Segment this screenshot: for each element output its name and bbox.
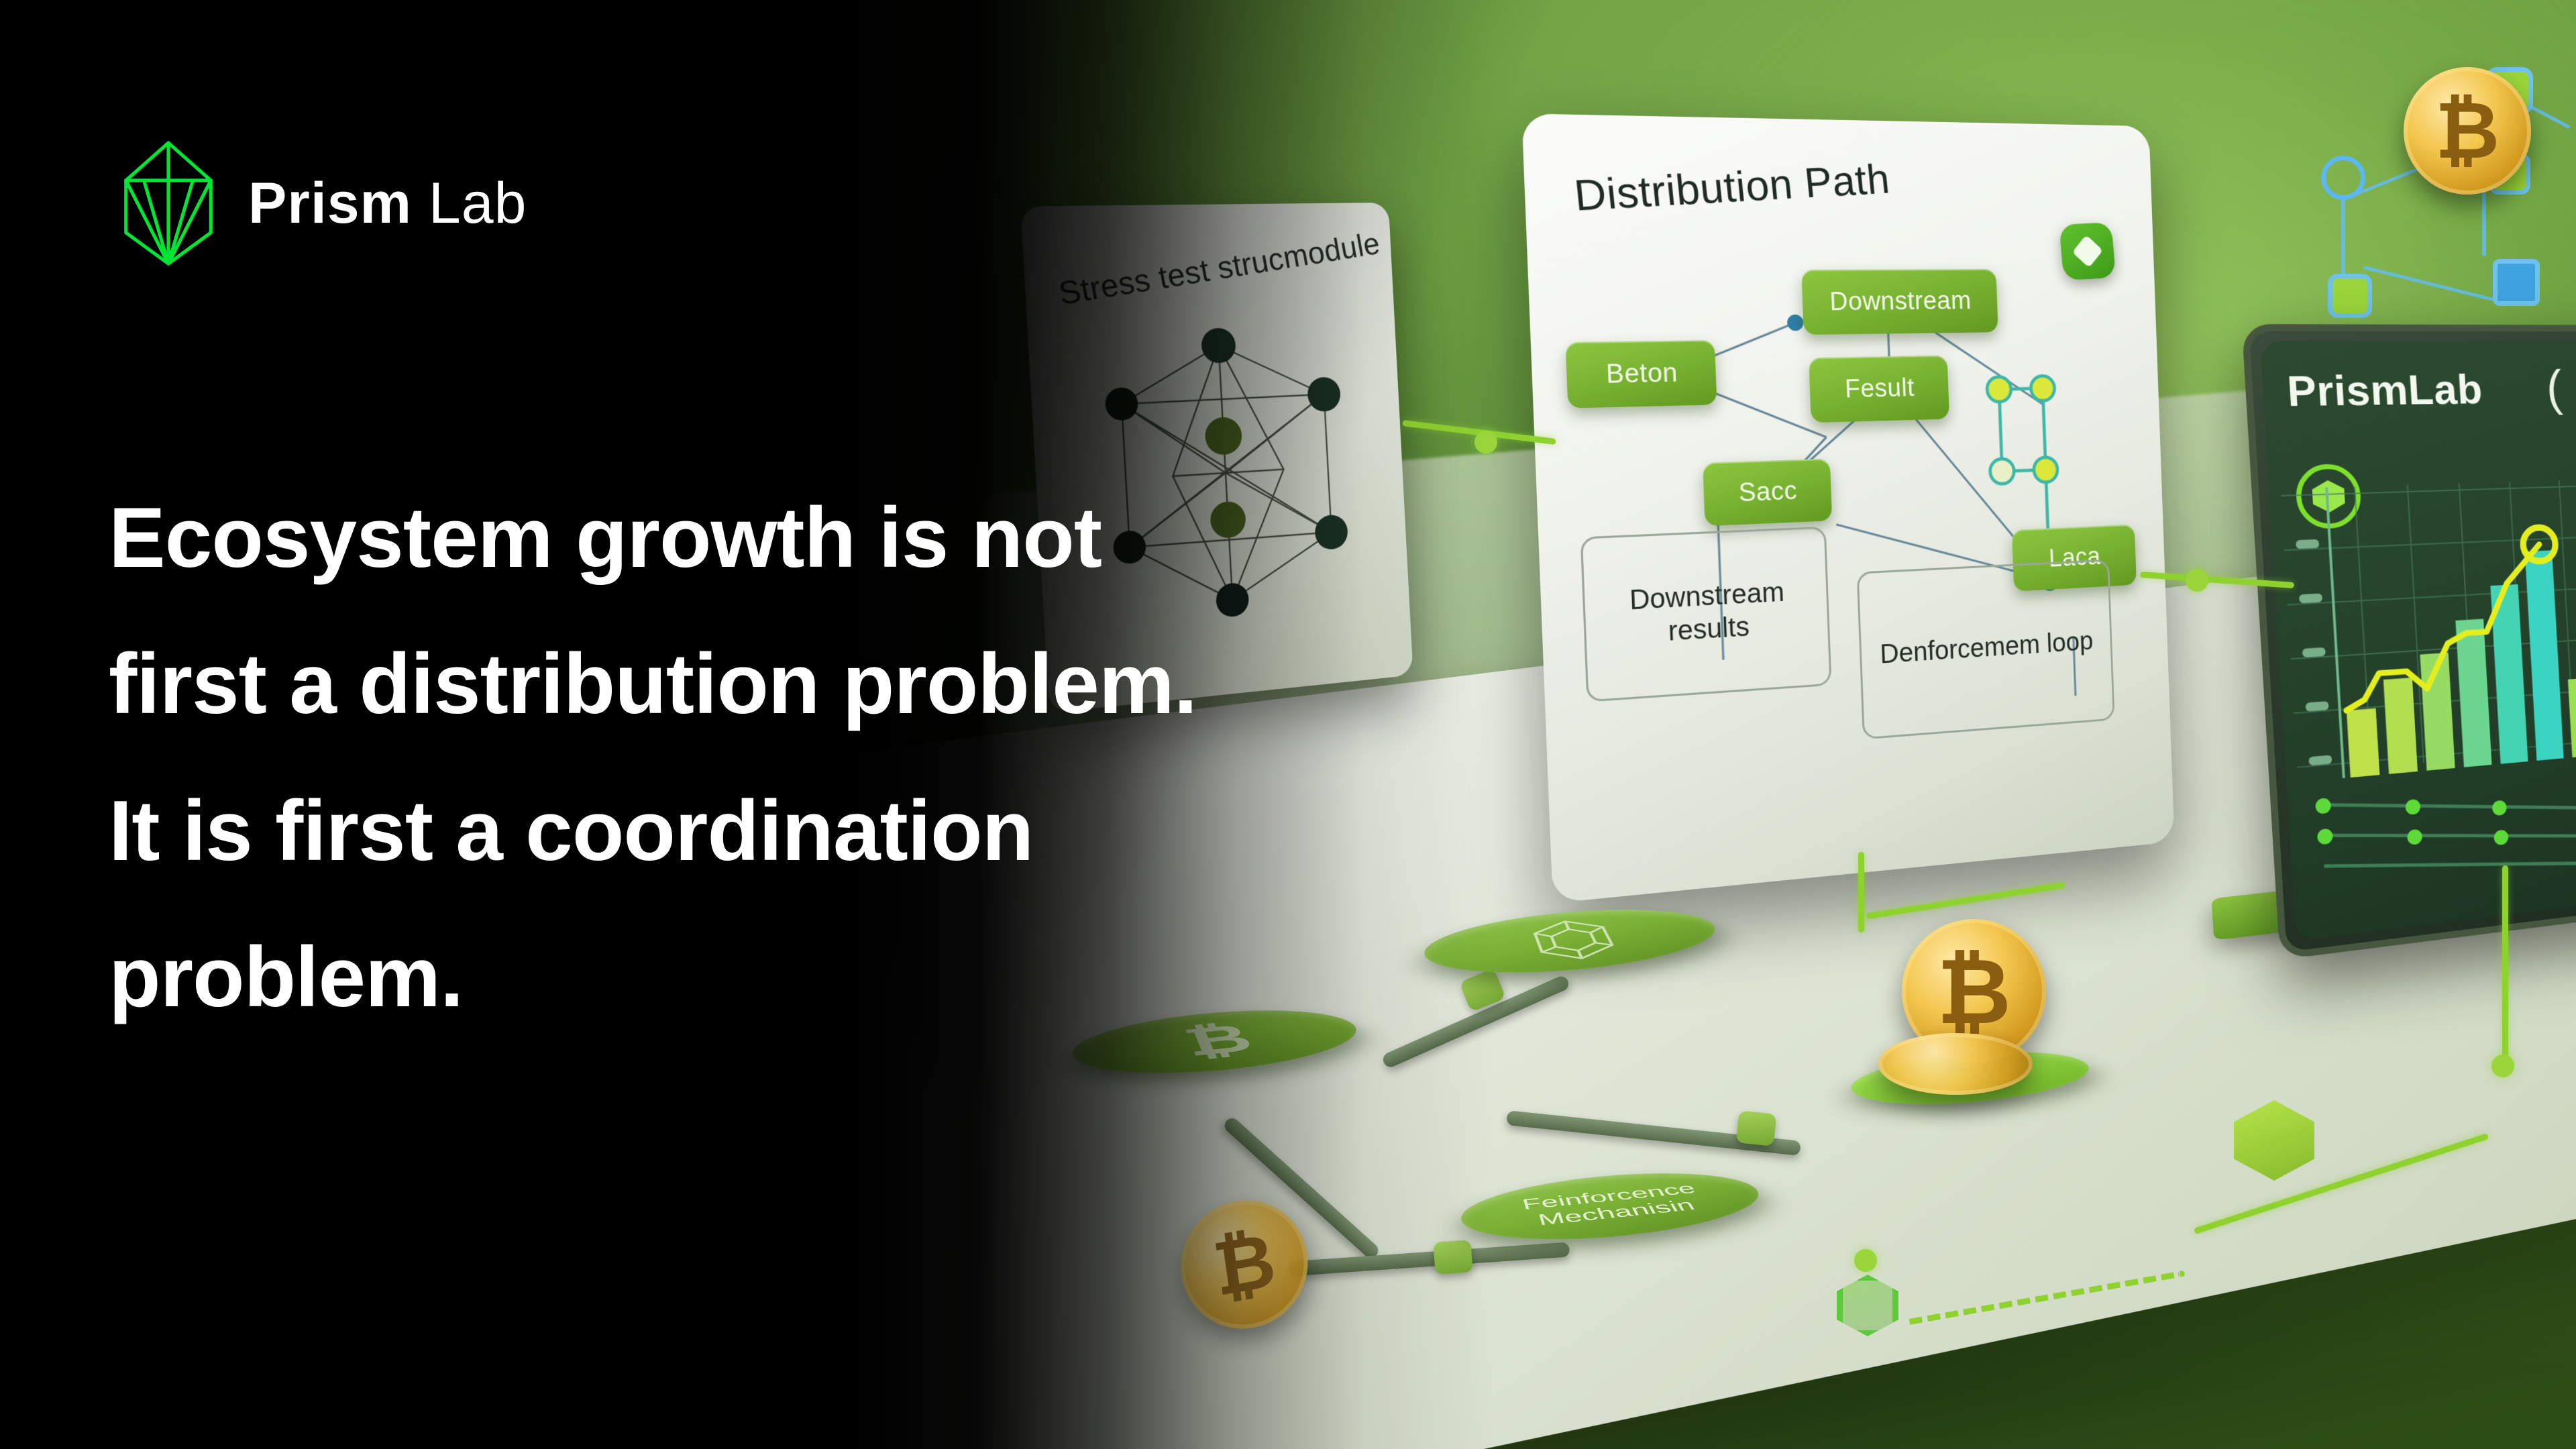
content-layer: Prism Lab Ecosystem growth is not first … [0, 0, 2576, 1449]
brand-name-bold: Prism [248, 171, 412, 235]
brand-lockup: Prism Lab [119, 138, 527, 269]
headline-line-4: problem. [109, 904, 1665, 1050]
headline-line-3: It is first a coordination [109, 757, 1665, 904]
headline-line-1: Ecosystem growth is not [109, 464, 1665, 610]
headline: Ecosystem growth is not first a distribu… [109, 464, 1665, 1051]
headline-line-2: first a distribution problem. [109, 610, 1665, 757]
promo-banner: ₿ Stress test strucmodule [0, 0, 2576, 1449]
prism-crystal-icon [119, 138, 217, 269]
brand-name: Prism Lab [248, 170, 527, 237]
brand-name-light: Lab [412, 171, 527, 235]
